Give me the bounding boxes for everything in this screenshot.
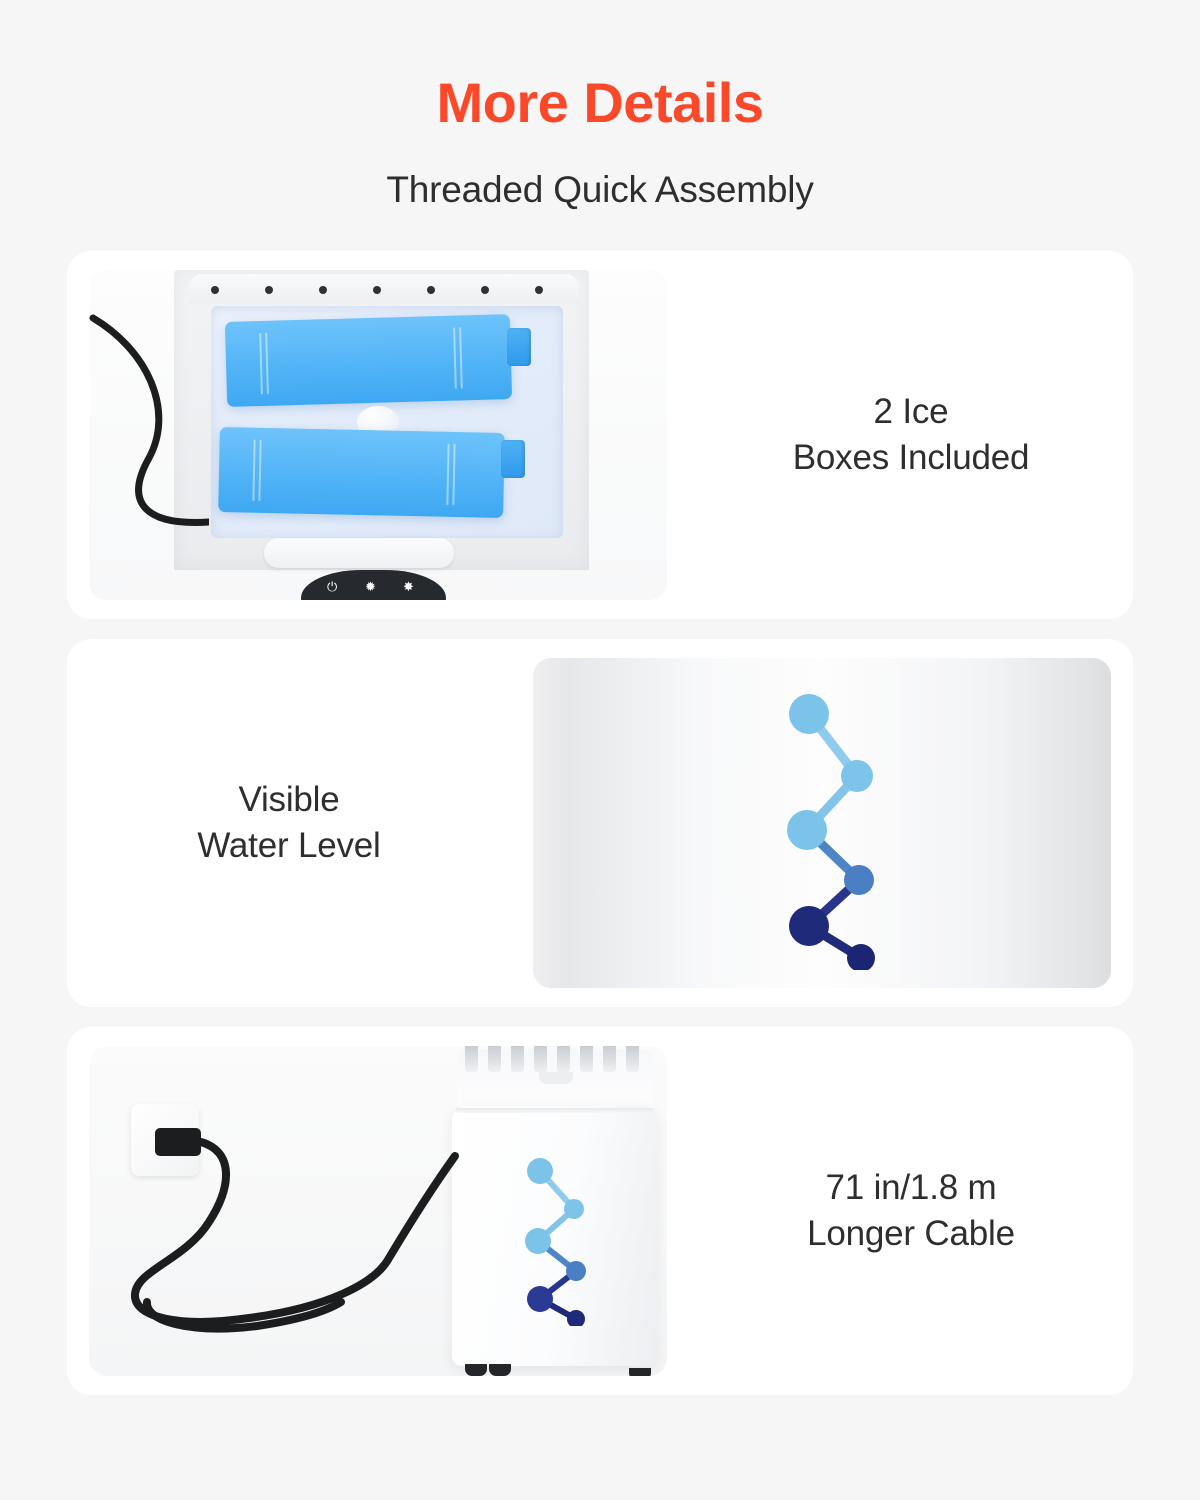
feature-card-ice-boxes: ⏻ ✹ ✸ 2 Ice Boxes Included <box>67 251 1133 619</box>
caption-line-2: Longer Cable <box>699 1211 1123 1257</box>
feature-caption: 2 Ice Boxes Included <box>689 389 1133 481</box>
vent-hole-icon <box>427 286 435 294</box>
vent-hole-icon <box>265 286 273 294</box>
ice-box <box>218 427 505 518</box>
swing-icon[interactable]: ✸ <box>403 580 414 593</box>
caption-line-1: 2 Ice <box>699 389 1123 435</box>
vent-hole-icon <box>535 286 543 294</box>
water-level-dot <box>841 760 873 792</box>
water-level-dot <box>844 865 874 895</box>
page-title: More Details <box>0 74 1200 133</box>
water-level-dot <box>789 694 829 734</box>
water-level-indicator <box>773 680 893 970</box>
water-level-image <box>533 658 1111 988</box>
vent-hole-icon <box>211 286 219 294</box>
caption-line-1: Visible <box>77 777 501 823</box>
feature-card-longer-cable: 71 in/1.8 m Longer Cable <box>67 1027 1133 1395</box>
ice-box <box>225 314 512 407</box>
longer-cable-image <box>89 1046 667 1376</box>
power-cord <box>89 290 209 580</box>
feature-caption: Visible Water Level <box>67 777 511 869</box>
power-icon[interactable]: ⏻ <box>327 580 337 593</box>
ice-box-cap <box>501 440 525 478</box>
feature-card-list: ⏻ ✹ ✸ 2 Ice Boxes Included <box>0 251 1200 1395</box>
page-subtitle: Threaded Quick Assembly <box>0 169 1200 211</box>
power-cable <box>89 1046 667 1376</box>
caption-line-2: Water Level <box>77 823 501 869</box>
caption-line-2: Boxes Included <box>699 435 1123 481</box>
vent-hole-icon <box>319 286 327 294</box>
fan-icon[interactable]: ✹ <box>365 580 376 593</box>
control-panel[interactable]: ⏻ ✹ ✸ <box>301 570 446 600</box>
water-level-dot <box>787 810 827 850</box>
tray-handle <box>264 538 454 568</box>
feature-card-water-level: Visible Water Level <box>67 639 1133 1007</box>
page-header: More Details Threaded Quick Assembly <box>0 0 1200 211</box>
vent-rail <box>189 274 579 304</box>
product-detail-page: More Details Threaded Quick Assembly <box>0 0 1200 1500</box>
caption-line-1: 71 in/1.8 m <box>699 1165 1123 1211</box>
feature-caption: 71 in/1.8 m Longer Cable <box>689 1165 1133 1257</box>
ice-boxes-image: ⏻ ✹ ✸ <box>89 270 667 600</box>
water-level-dot <box>789 906 829 946</box>
vent-hole-icon <box>373 286 381 294</box>
ice-box-cap <box>507 328 531 366</box>
vent-hole-icon <box>481 286 489 294</box>
